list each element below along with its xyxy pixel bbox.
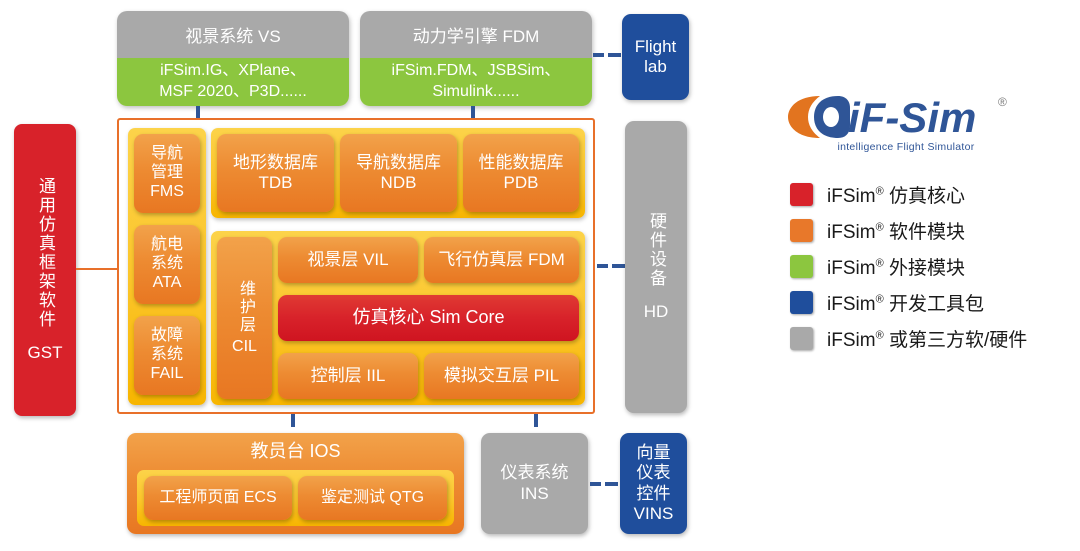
legend-swatch-sim-core	[790, 183, 813, 206]
flight-lab-box: Flight lab	[622, 14, 689, 100]
ios-child-qtg: 鉴定测试 QTG	[298, 476, 447, 520]
layer-pil: 模拟交互层 PIL	[424, 353, 579, 399]
vins-cn-label: 向量 仪表 控件	[637, 443, 671, 503]
ifsim-logo: iF-Sim ® intelligence Flight Simulator	[786, 92, 1026, 154]
legend-item: iFSim® 软件模块	[790, 212, 1070, 248]
legend-swatch-external-module	[790, 255, 813, 278]
ios-child-ecs: 工程师页面 ECS	[144, 476, 292, 520]
legend-item: iFSim® 仿真核心	[790, 176, 1070, 212]
layer-fdm-label: 飞行仿真层 FDM	[438, 250, 565, 270]
database-ndb: 导航数据库 NDB	[340, 134, 457, 212]
ins-cn-label: 仪表系统	[501, 463, 569, 483]
legend-label-devkit: iFSim® 开发工具包	[827, 289, 984, 316]
top-card-fdm: 动力学引擎 FDM iFSim.FDM、JSBSim、 Simulink....…	[360, 11, 592, 106]
sim-core-box: 仿真核心 Sim Core	[278, 295, 579, 341]
module-fail-cn: 故障 系统	[151, 327, 183, 365]
legend-swatch-devkit	[790, 291, 813, 314]
ifsim-logo-registered: ®	[998, 95, 1007, 109]
legend-item: iFSim® 外接模块	[790, 248, 1070, 284]
module-fms-cn: 导航 管理	[151, 145, 183, 183]
sim-core-label: 仿真核心 Sim Core	[352, 307, 504, 328]
connector-ins-to-vins	[590, 482, 601, 486]
connector-hardware-to-ins	[534, 414, 538, 427]
connector-flightlab-stub	[608, 53, 621, 57]
legend-item: iFSim® 开发工具包	[790, 284, 1070, 320]
database-pdb-code: PDB	[504, 173, 539, 193]
legend: iFSim® 仿真核心 iFSim® 软件模块 iFSim® 外接模块 iFSi…	[790, 176, 1070, 356]
ios-title: 教员台 IOS	[250, 441, 340, 462]
flight-lab-label: Flight lab	[635, 37, 677, 77]
ifsim-logo-wordmark: iF-Sim	[848, 94, 976, 141]
module-fms: 导航 管理 FMS	[134, 134, 200, 213]
database-tdb: 地形数据库 TDB	[217, 134, 334, 212]
legend-swatch-third-party	[790, 327, 813, 350]
database-tdb-code: TDB	[259, 173, 293, 193]
database-ndb-cn: 导航数据库	[356, 153, 441, 173]
ins-box: 仪表系统 INS	[481, 433, 588, 534]
database-pdb: 性能数据库 PDB	[463, 134, 579, 212]
database-pdb-cn: 性能数据库	[479, 153, 564, 173]
connector-gst-to-frame	[76, 268, 118, 270]
top-card-vs: 视景系统 VS iFSim.IG、XPlane、 MSF 2020、P3D...…	[117, 11, 349, 106]
ios-child-ecs-label: 工程师页面 ECS	[159, 489, 276, 508]
maintenance-layer-code: CIL	[232, 338, 257, 357]
connector-vs-to-frame	[196, 106, 200, 118]
connector-fdm-to-frame	[471, 106, 475, 118]
database-tdb-cn: 地形数据库	[233, 153, 318, 173]
maintenance-layer-vertical: 维护层	[235, 280, 254, 334]
hardware-vertical-label: 硬件设备	[646, 212, 666, 288]
layer-pil-label: 模拟交互层 PIL	[444, 366, 559, 386]
ifsim-logo-mark: iF-Sim ®	[786, 92, 1026, 142]
module-fail-code: FAIL	[151, 365, 184, 384]
ios-child-qtg-label: 鉴定测试 QTG	[321, 489, 424, 508]
maintenance-layer-cil: 维护层 CIL	[217, 237, 272, 399]
architecture-diagram: 视景系统 VS iFSim.IG、XPlane、 MSF 2020、P3D...…	[0, 0, 1080, 551]
database-ndb-code: NDB	[381, 173, 417, 193]
layer-iil-label: 控制层 IIL	[311, 366, 386, 386]
legend-label-sim-core: iFSim® 仿真核心	[827, 181, 965, 208]
hardware-code-label: HD	[644, 302, 669, 322]
module-ata-code: ATA	[153, 274, 182, 293]
layer-vil-label: 视景层 VIL	[307, 250, 388, 270]
legend-label-software-module: iFSim® 软件模块	[827, 217, 965, 244]
connector-fdm-to-flightlab	[593, 53, 604, 57]
gst-code-label: GST	[28, 343, 63, 363]
ins-code-label: INS	[520, 484, 548, 504]
connector-vins-stub	[605, 482, 618, 486]
module-fms-code: FMS	[150, 183, 184, 202]
layer-vil: 视景层 VIL	[278, 237, 418, 283]
top-card-vs-body: iFSim.IG、XPlane、 MSF 2020、P3D......	[117, 58, 349, 106]
layer-fdm: 飞行仿真层 FDM	[424, 237, 579, 283]
connector-frame-to-ios	[291, 414, 295, 427]
top-card-vs-head: 视景系统 VS	[117, 11, 349, 58]
connector-hardware-stub	[612, 264, 625, 268]
hardware-device-box: 硬件设备 HD	[625, 121, 687, 413]
gst-vertical-label: 通用仿真框架软件	[35, 177, 55, 329]
top-card-fdm-body: iFSim.FDM、JSBSim、 Simulink......	[360, 58, 592, 106]
legend-swatch-software-module	[790, 219, 813, 242]
ifsim-logo-tagline: intelligence Flight Simulator	[786, 141, 1026, 153]
legend-item: iFSim® 或第三方软/硬件	[790, 320, 1070, 356]
legend-label-third-party: iFSim® 或第三方软/硬件	[827, 325, 1027, 352]
legend-label-external-module: iFSim® 外接模块	[827, 253, 965, 280]
vins-box: 向量 仪表 控件 VINS	[620, 433, 687, 534]
layer-iil: 控制层 IIL	[278, 353, 418, 399]
module-ata: 航电 系统 ATA	[134, 225, 200, 304]
top-card-fdm-head: 动力学引擎 FDM	[360, 11, 592, 58]
module-fail: 故障 系统 FAIL	[134, 316, 200, 395]
module-ata-cn: 航电 系统	[151, 236, 183, 274]
gst-bar: 通用仿真框架软件 GST	[14, 124, 76, 416]
connector-frame-to-hardware	[597, 264, 608, 268]
vins-code-label: VINS	[634, 504, 674, 524]
